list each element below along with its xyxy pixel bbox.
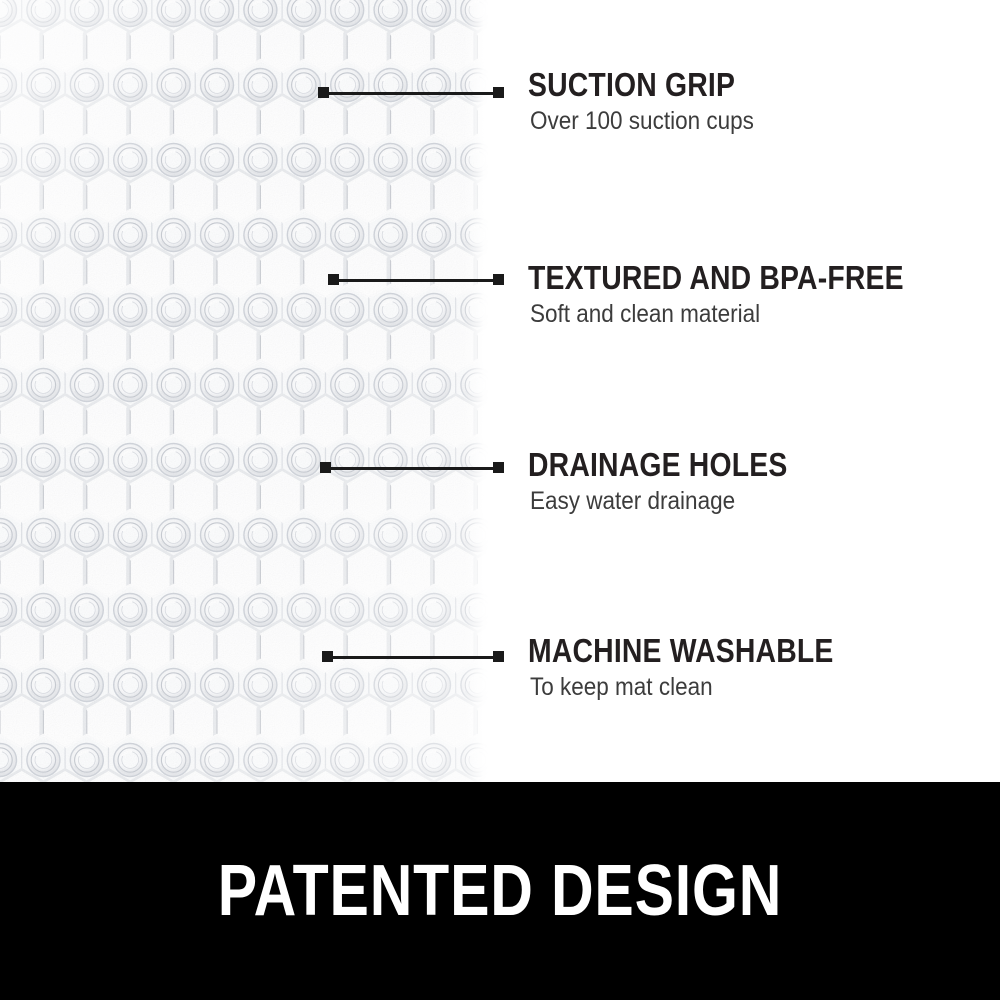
leader-end-cap xyxy=(493,462,504,473)
leader-bar xyxy=(323,92,499,95)
feature-textured-bpa-free: TEXTURED AND BPA-FREE Soft and clean mat… xyxy=(528,261,965,328)
banner-headline: PATENTED DESIGN xyxy=(90,782,910,1000)
feature-suction-grip: SUCTION GRIP Over 100 suction cups xyxy=(528,68,779,135)
leader-bar xyxy=(333,279,499,282)
leader-line-machine-washable xyxy=(322,651,504,663)
leader-line-suction-grip xyxy=(318,87,504,99)
leader-end-cap xyxy=(493,274,504,285)
bath-mat-product-image xyxy=(0,0,489,782)
feature-subtitle: Soft and clean material xyxy=(530,301,921,328)
leader-line-drainage-holes xyxy=(320,462,504,474)
leader-line-textured-bpa-free xyxy=(328,274,504,286)
leader-bar xyxy=(327,656,499,659)
product-feature-infographic: SUCTION GRIP Over 100 suction cups TEXTU… xyxy=(0,0,1000,1000)
leader-bar xyxy=(325,467,499,470)
bottom-banner: PATENTED DESIGN xyxy=(0,782,1000,1000)
feature-subtitle: Over 100 suction cups xyxy=(530,108,754,135)
leader-end-cap xyxy=(493,87,504,98)
feature-title: SUCTION GRIP xyxy=(528,68,744,102)
feature-title: MACHINE WASHABLE xyxy=(528,634,833,668)
feature-title: DRAINAGE HOLES xyxy=(528,448,787,482)
feature-drainage-holes: DRAINAGE HOLES Easy water drainage xyxy=(528,448,830,515)
feature-subtitle: Easy water drainage xyxy=(530,488,800,515)
feature-subtitle: To keep mat clean xyxy=(530,674,848,701)
honeycomb-mat-pattern xyxy=(0,0,489,782)
feature-title: TEXTURED AND BPA-FREE xyxy=(528,261,904,295)
leader-end-cap xyxy=(493,651,504,662)
feature-machine-washable: MACHINE WASHABLE To keep mat clean xyxy=(528,634,883,701)
